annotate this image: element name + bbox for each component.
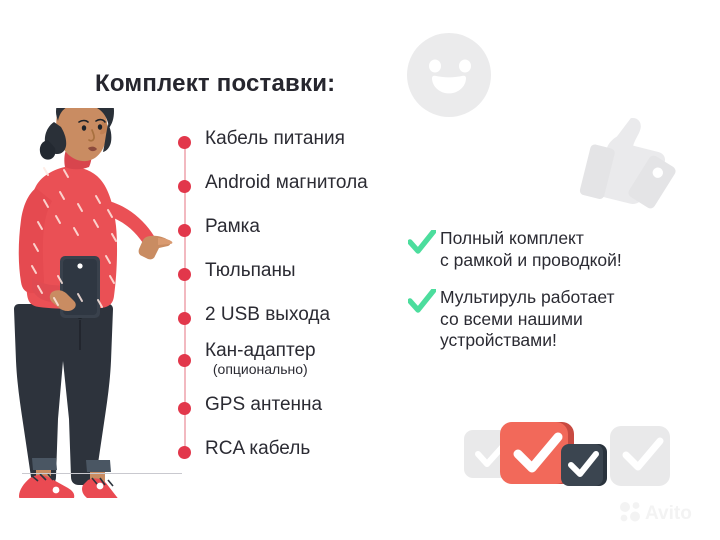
green-check-icon <box>408 230 436 256</box>
list-item-main-label: Кан-адаптер <box>205 340 316 361</box>
benefits-list: Полный комплект с рамкой и проводкой! Му… <box>408 228 708 366</box>
bullet-dot-icon <box>178 224 191 237</box>
benefit-label: Мультируль работает со всеми нашими устр… <box>440 287 615 352</box>
checkbox-cluster-decoration <box>462 418 692 488</box>
list-item-label: Android магнитола <box>205 172 368 193</box>
right-shoe <box>82 478 123 498</box>
smiley-face-icon <box>404 30 494 120</box>
woman-illustration <box>8 108 183 498</box>
checkbox-dark <box>561 444 607 486</box>
thumbs-up-icon <box>575 112 690 222</box>
avito-wordmark: Avito <box>645 503 692 524</box>
list-item-label: Кан-адаптер (опционально) <box>205 340 316 378</box>
bullet-dot-icon <box>178 180 191 193</box>
bullet-dot-icon <box>178 402 191 415</box>
benefit-label: Полный комплект с рамкой и проводкой! <box>440 228 622 271</box>
page-title: Комплект поставки: <box>95 70 335 98</box>
list-item-label: Тюльпаны <box>205 260 296 281</box>
list-item-label: RCA кабель <box>205 438 310 459</box>
list-item-label: Рамка <box>205 216 260 237</box>
bullet-dot-icon <box>178 268 191 281</box>
bullet-dot-icon <box>178 136 191 149</box>
list-item-label: Кабель питания <box>205 128 345 149</box>
ground-line <box>22 473 182 474</box>
green-check-icon <box>408 289 436 315</box>
list-item-label: GPS антенна <box>205 394 322 415</box>
benefit-item: Мультируль работает со всеми нашими устр… <box>408 287 708 352</box>
list-item-sub-label: (опционально) <box>205 362 316 378</box>
bullet-dot-icon <box>178 446 191 459</box>
checkbox-grey-right <box>610 426 670 486</box>
pointing-hand <box>139 236 173 260</box>
bullet-dot-icon <box>178 312 191 325</box>
left-shoe <box>19 474 74 498</box>
avito-watermark: Avito <box>617 499 709 525</box>
poster-canvas: Комплект поставки: Кабель питания Androi… <box>0 0 720 540</box>
list-item-label: 2 USB выхода <box>205 304 330 325</box>
benefit-item: Полный комплект с рамкой и проводкой! <box>408 228 708 271</box>
bullet-dot-icon <box>178 354 191 367</box>
